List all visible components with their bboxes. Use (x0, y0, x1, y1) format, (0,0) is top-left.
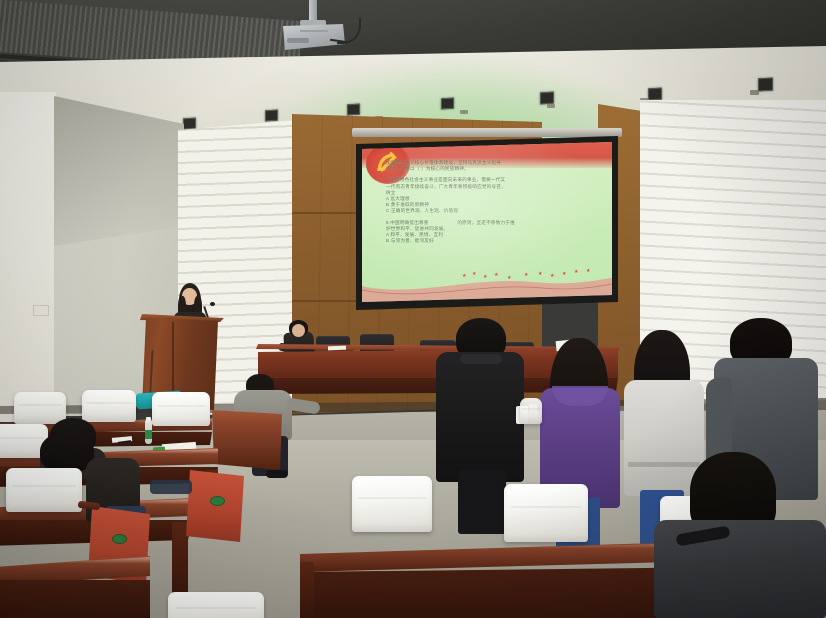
standing-person-gray-top-waistband (628, 462, 700, 467)
projector-mount-pole (309, 0, 317, 22)
projector-lens (287, 38, 309, 43)
seat-number-plate (210, 496, 225, 506)
desk-leg (172, 522, 188, 602)
chair-cover (14, 392, 66, 424)
chair-cover (6, 468, 82, 512)
ceiling-vent (547, 104, 555, 108)
chair-cover (504, 484, 588, 542)
water-bottle-label (145, 430, 152, 439)
ceiling-vent (750, 90, 759, 95)
chair-cover (520, 398, 542, 424)
paper-on-head-table (328, 346, 346, 351)
standing-person-black-jacket-legs (458, 470, 506, 534)
ceiling-downlight (183, 118, 196, 130)
slide-text-block: 加强社会主义核心价值体系建设，坚持马克思主义指导 思想，弘扬以（ ）为核心的民族… (386, 160, 604, 244)
ceiling-downlight (540, 92, 554, 105)
shoe (266, 470, 288, 478)
projection-screen: 加强社会主义核心价值体系建设，坚持马克思主义指导 思想，弘扬以（ ）为核心的民族… (362, 142, 612, 302)
desk-skirt (0, 580, 150, 618)
desk-row-far-right-of-left (212, 410, 282, 470)
desk-leg (300, 562, 314, 618)
standing-person-black-jacket-collar (460, 354, 502, 364)
bag-under-desk (150, 480, 192, 494)
ceiling-downlight (347, 104, 360, 116)
water-bottle-cap (146, 417, 151, 421)
seated-official-head (292, 324, 305, 337)
ceiling-downlight (265, 110, 278, 122)
ceiling-downlight (758, 78, 773, 92)
slide-option: B 与邻为善、睦邻友好 (386, 238, 604, 244)
chair-cover (82, 390, 136, 422)
seat-number-plate (112, 534, 127, 544)
slide-star-row: ★ ★ ★ ★ ★ ★ ★ ★ ★ ★ ★ (462, 272, 602, 282)
wall-outlet-plate (33, 305, 49, 316)
ceiling-downlight (441, 98, 454, 110)
standing-person-black-jacket-torso (436, 352, 524, 482)
projector-vent-slit (300, 30, 328, 32)
auditorium-seat-back (186, 470, 244, 542)
microphone-head-icon (210, 302, 215, 306)
wall-left-front (0, 92, 56, 422)
chair-cover (352, 476, 432, 532)
slide-option: C 正确的世界观、人生观、价值观 (386, 208, 604, 214)
chair-cover (168, 592, 264, 618)
screen-roller-housing (352, 128, 622, 137)
ceiling-vent (460, 110, 468, 114)
slide-line: 思想，弘扬以（ ）为核心的民族精神。 (386, 166, 604, 172)
lecture-hall-photo: 加强社会主义核心价值体系建设，坚持马克思主义指导 思想，弘扬以（ ）为核心的民族… (0, 0, 826, 618)
ceiling-downlight (648, 88, 662, 101)
chair-cover (152, 392, 210, 426)
